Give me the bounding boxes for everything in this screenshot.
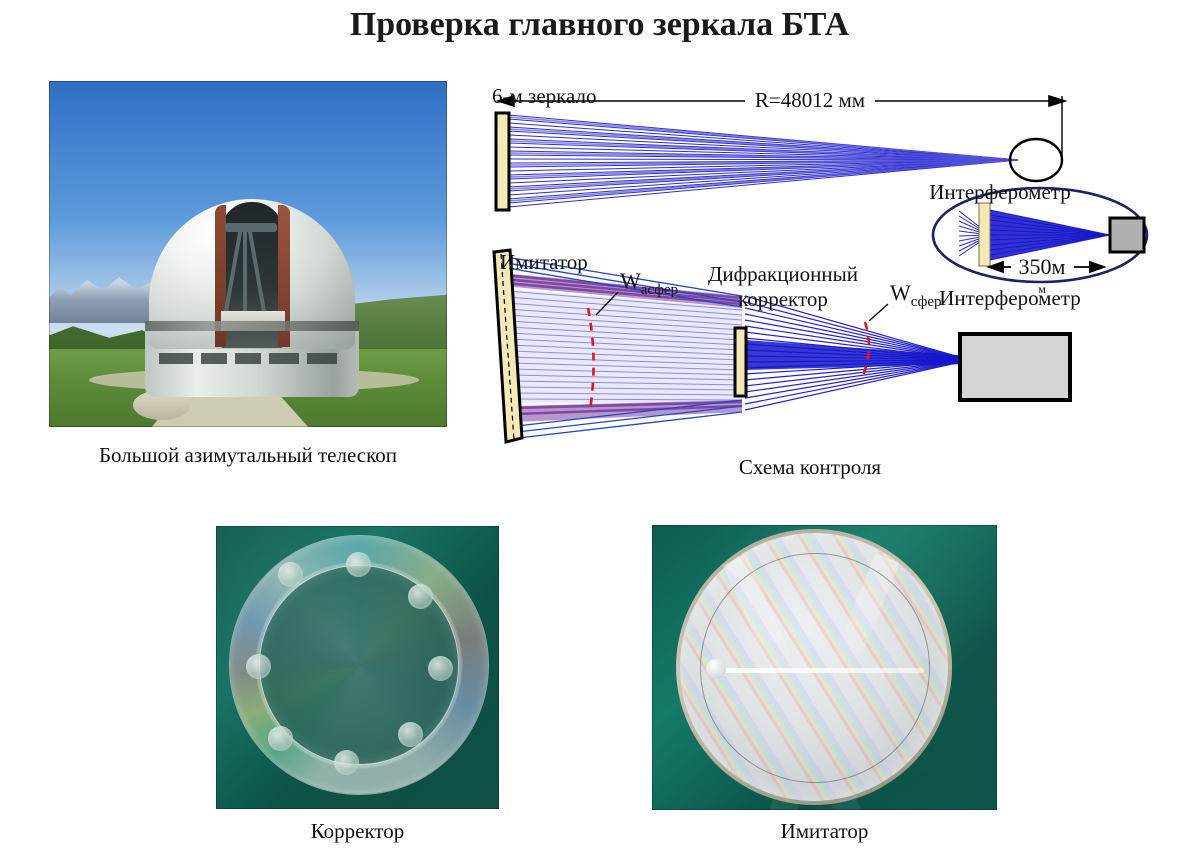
corrector-photo-border [216,526,499,809]
imitator-mirror-photo [652,525,997,810]
corrector-plate-photo [216,526,499,809]
corrector-photo-caption: Корректор [216,819,499,844]
telescope-photo-caption: Большой азимутальный телескоп [49,443,447,468]
inset-mirror-element [979,203,990,266]
imitator-diagram-label: Имитатор [500,250,650,275]
top-interferometer-label: Интерферометр [900,180,1100,205]
six-meter-mirror-label: 6-м зеркало [492,84,662,109]
inset-interferometer-caption: Интерферометр [900,286,1120,311]
control-scheme-caption: Схема контроля [660,455,960,480]
page-title: Проверка главного зеркала БТА [0,6,1199,44]
six-meter-mirror-element [496,113,509,210]
corrector-label-line1: Дифракционный [708,262,858,286]
imitator-photo-border [652,525,997,810]
radius-dimension-label: R=48012 мм [745,88,875,113]
inset-interferometer-box [1110,218,1144,252]
slide-canvas: Проверка главного зеркала БТА Большой аз… [0,0,1199,859]
inset-dimension-label: 350м [1019,254,1066,279]
photo-border [49,81,447,427]
diffraction-corrector-label: Дифракционный корректор [688,262,878,312]
bta-telescope-dome-photo [49,81,447,427]
diffraction-corrector-element [735,328,746,396]
interferometer-box [960,334,1070,400]
imitator-photo-caption: Имитатор [652,819,997,844]
corrector-label-line2: корректор [738,287,828,311]
